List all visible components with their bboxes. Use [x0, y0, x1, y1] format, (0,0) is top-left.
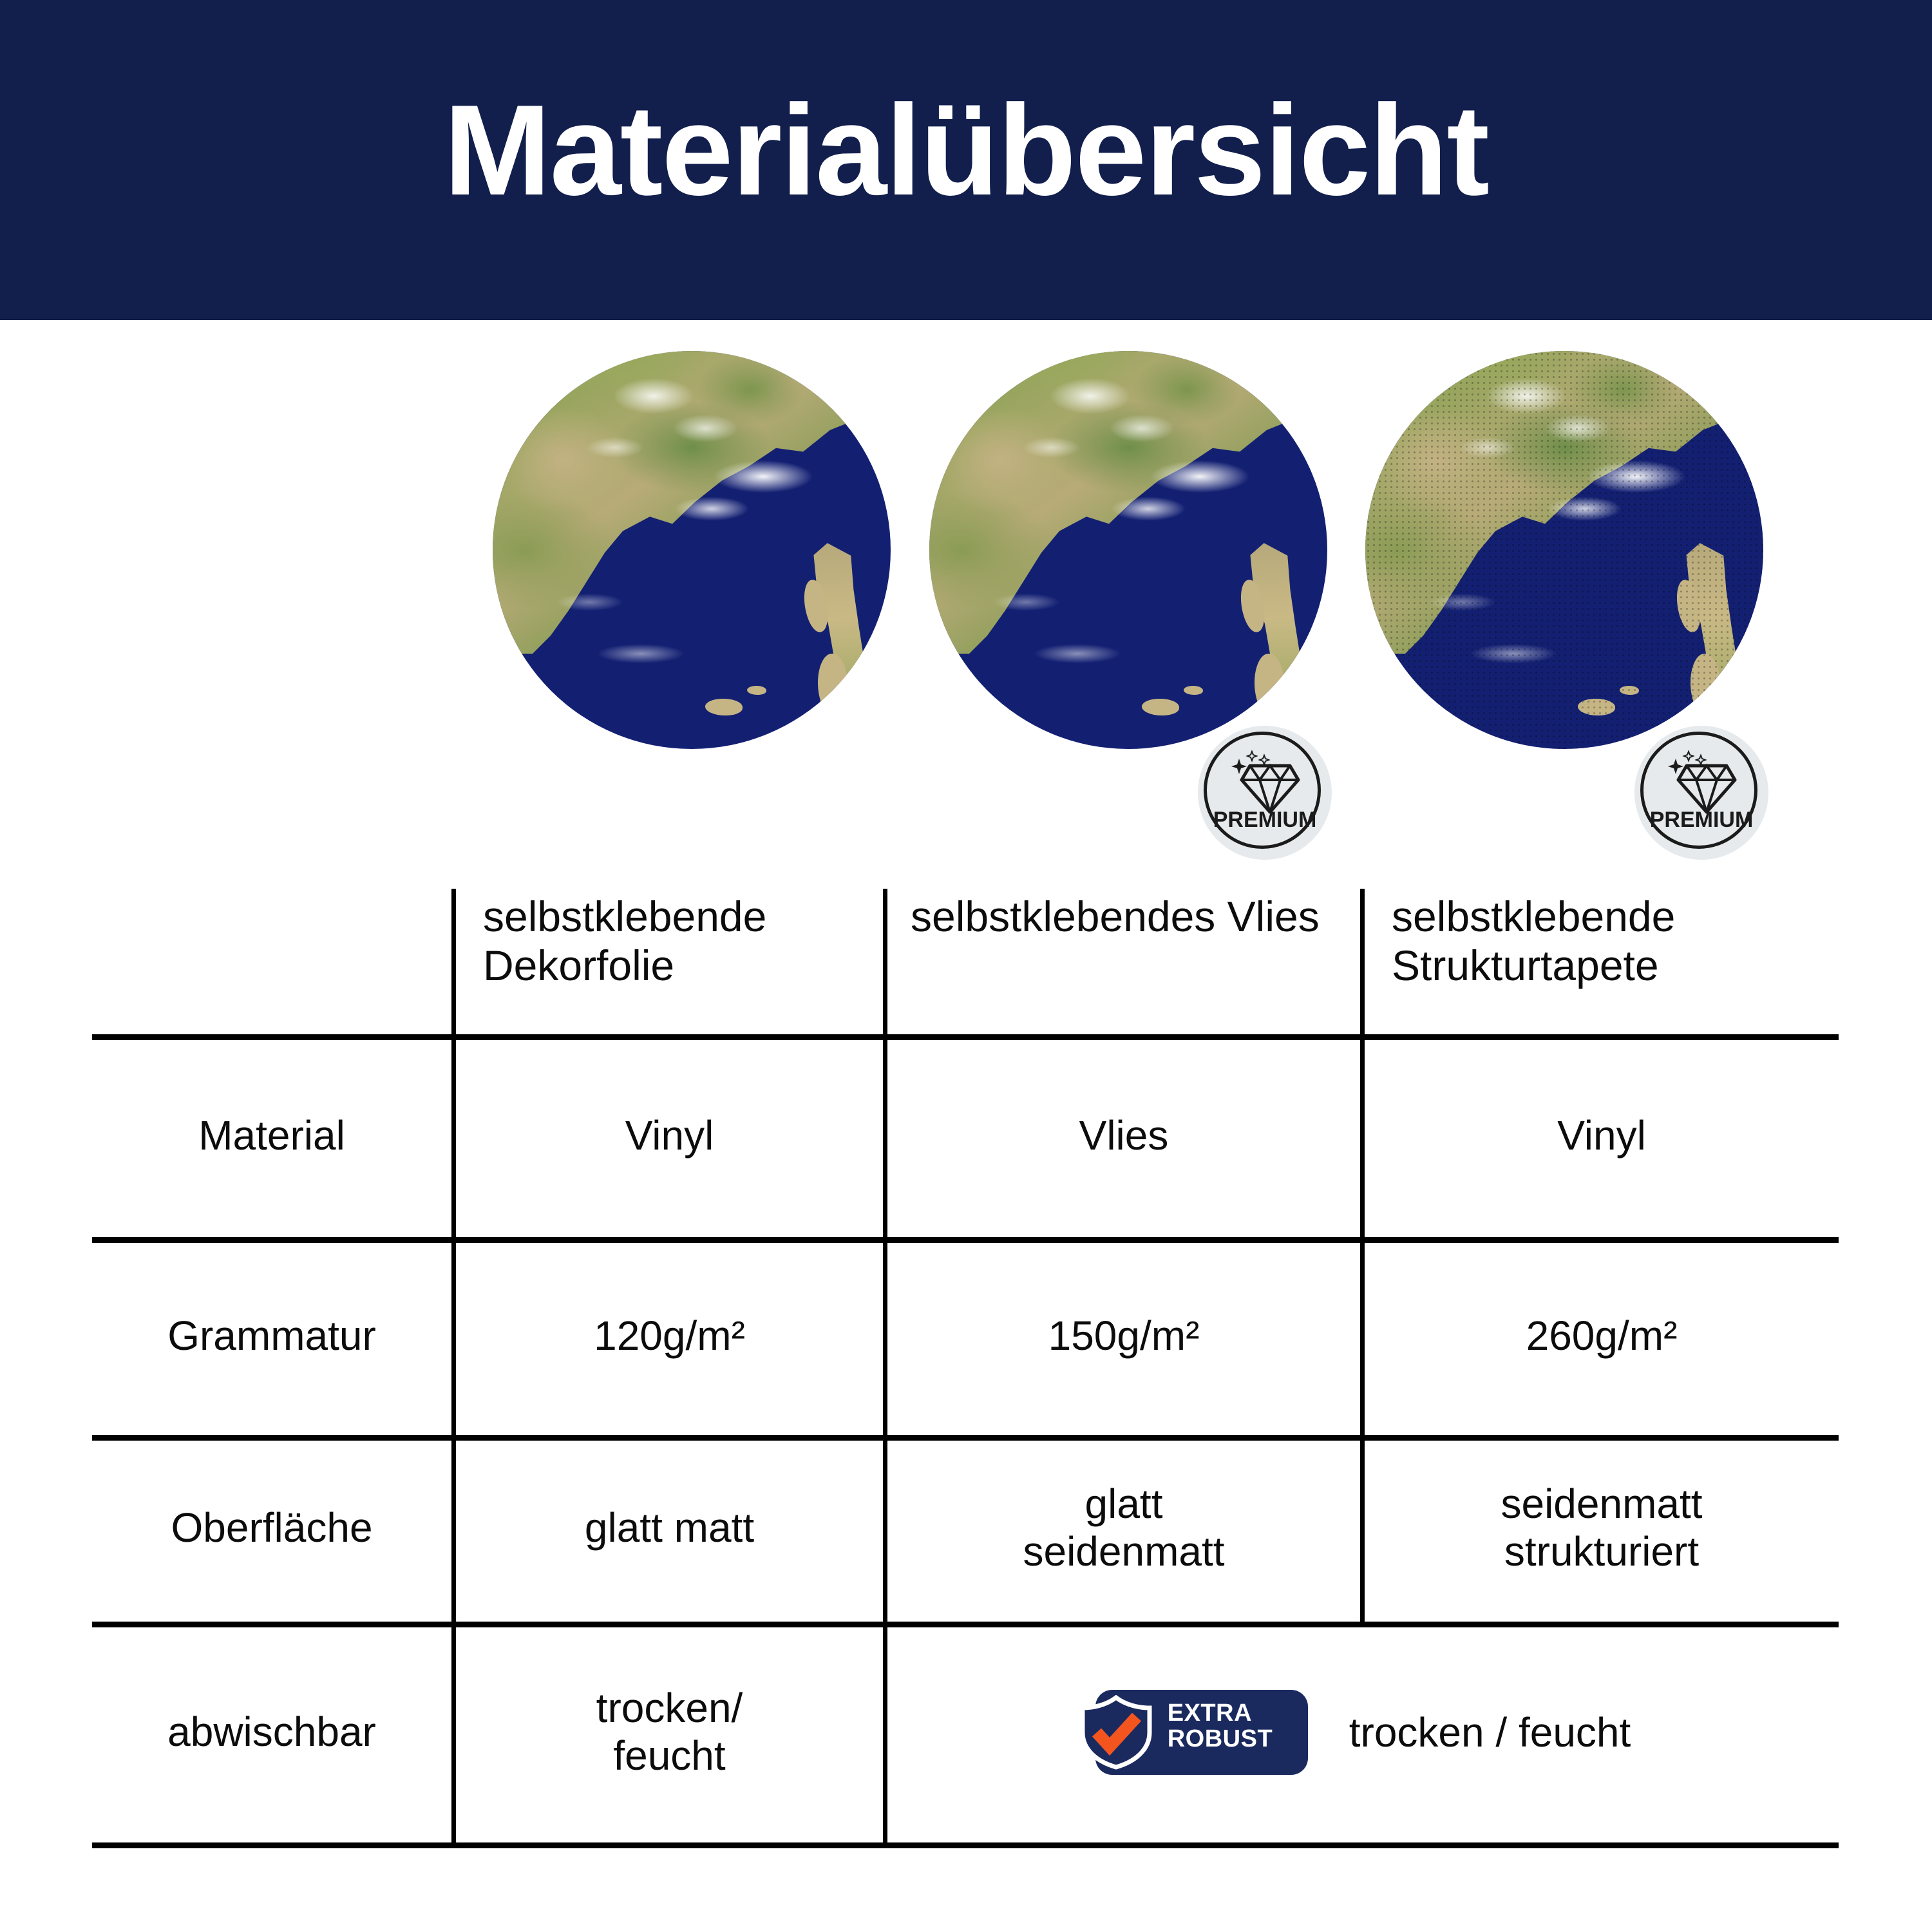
table-cell-oberflaeche-vlies: glatt seidenmatt [887, 1435, 1360, 1622]
table-cell-grammatur-vlies: 150g/m² [887, 1237, 1360, 1435]
table-row-label-abwischbar: abwischbar [92, 1622, 451, 1842]
extra-robust-badge-text: EXTRA ROBUST [1168, 1700, 1273, 1752]
premium-badge-vlies: PREMIUM [1198, 726, 1332, 860]
table-cell-grammatur-dekorfolie: 120g/m² [456, 1237, 883, 1435]
structure-texture-overlay [1365, 351, 1763, 749]
satellite-map-image [493, 351, 891, 749]
table-header-strukturtapete: selbstklebende Strukturtapete [1365, 889, 1839, 1034]
premium-badge-strukturtapete: PREMIUM [1634, 726, 1768, 860]
extra-robust-line1: EXTRA [1168, 1700, 1273, 1726]
extra-robust-line2: ROBUST [1168, 1726, 1273, 1752]
table-cell-abwischbar-merged: EXTRA ROBUST trocken / feucht [887, 1622, 1839, 1842]
table-cell-grammatur-strukturtapete: 260g/m² [1365, 1237, 1839, 1435]
page-title: Materialübersicht [0, 0, 1932, 320]
table-row-label-oberflaeche: Oberfläche [92, 1435, 451, 1622]
table-cell-abwischbar-value: trocken / feucht [1349, 1709, 1631, 1756]
column-divider-2 [883, 889, 887, 1845]
table-header-vlies: selbstklebendes Vlies [887, 889, 1360, 1034]
table-cell-oberflaeche-strukturtapete: seidenmatt strukturiert [1365, 1435, 1839, 1622]
table-cell-oberflaeche-dekorfolie: glatt matt [456, 1435, 883, 1622]
swatch-dekorfolie[interactable] [493, 351, 891, 749]
table-cell-abwischbar-dekorfolie: trocken/ feucht [456, 1622, 883, 1842]
table-row-label-grammatur: Grammatur [92, 1237, 451, 1435]
swatch-strukturtapete[interactable] [1365, 351, 1763, 749]
column-divider-3 [1360, 889, 1365, 1624]
table-row-label-material: Material [92, 1034, 451, 1237]
row-divider-bottom [92, 1842, 1839, 1848]
material-swatch-row: PREMIUM PREMIUM [0, 351, 1932, 750]
table-cell-material-dekorfolie: Vinyl [456, 1034, 883, 1237]
satellite-map-image [929, 351, 1327, 749]
table-cell-material-strukturtapete: Vinyl [1365, 1034, 1839, 1237]
map-cloud-layer [929, 351, 1327, 749]
map-cloud-layer [493, 351, 891, 749]
extra-robust-badge: EXTRA ROBUST [1095, 1690, 1308, 1775]
premium-badge-label: PREMIUM [1634, 808, 1768, 833]
column-divider-1 [451, 889, 456, 1845]
table-header-dekorfolie: selbstklebende Dekorfolie [456, 889, 883, 1034]
material-spec-table: selbstklebende Dekorfolie selbstklebende… [92, 889, 1839, 1845]
table-cell-material-vlies: Vlies [887, 1034, 1360, 1237]
premium-badge-label: PREMIUM [1198, 808, 1332, 833]
shield-check-icon [1074, 1695, 1159, 1773]
swatch-vlies[interactable] [929, 351, 1327, 749]
